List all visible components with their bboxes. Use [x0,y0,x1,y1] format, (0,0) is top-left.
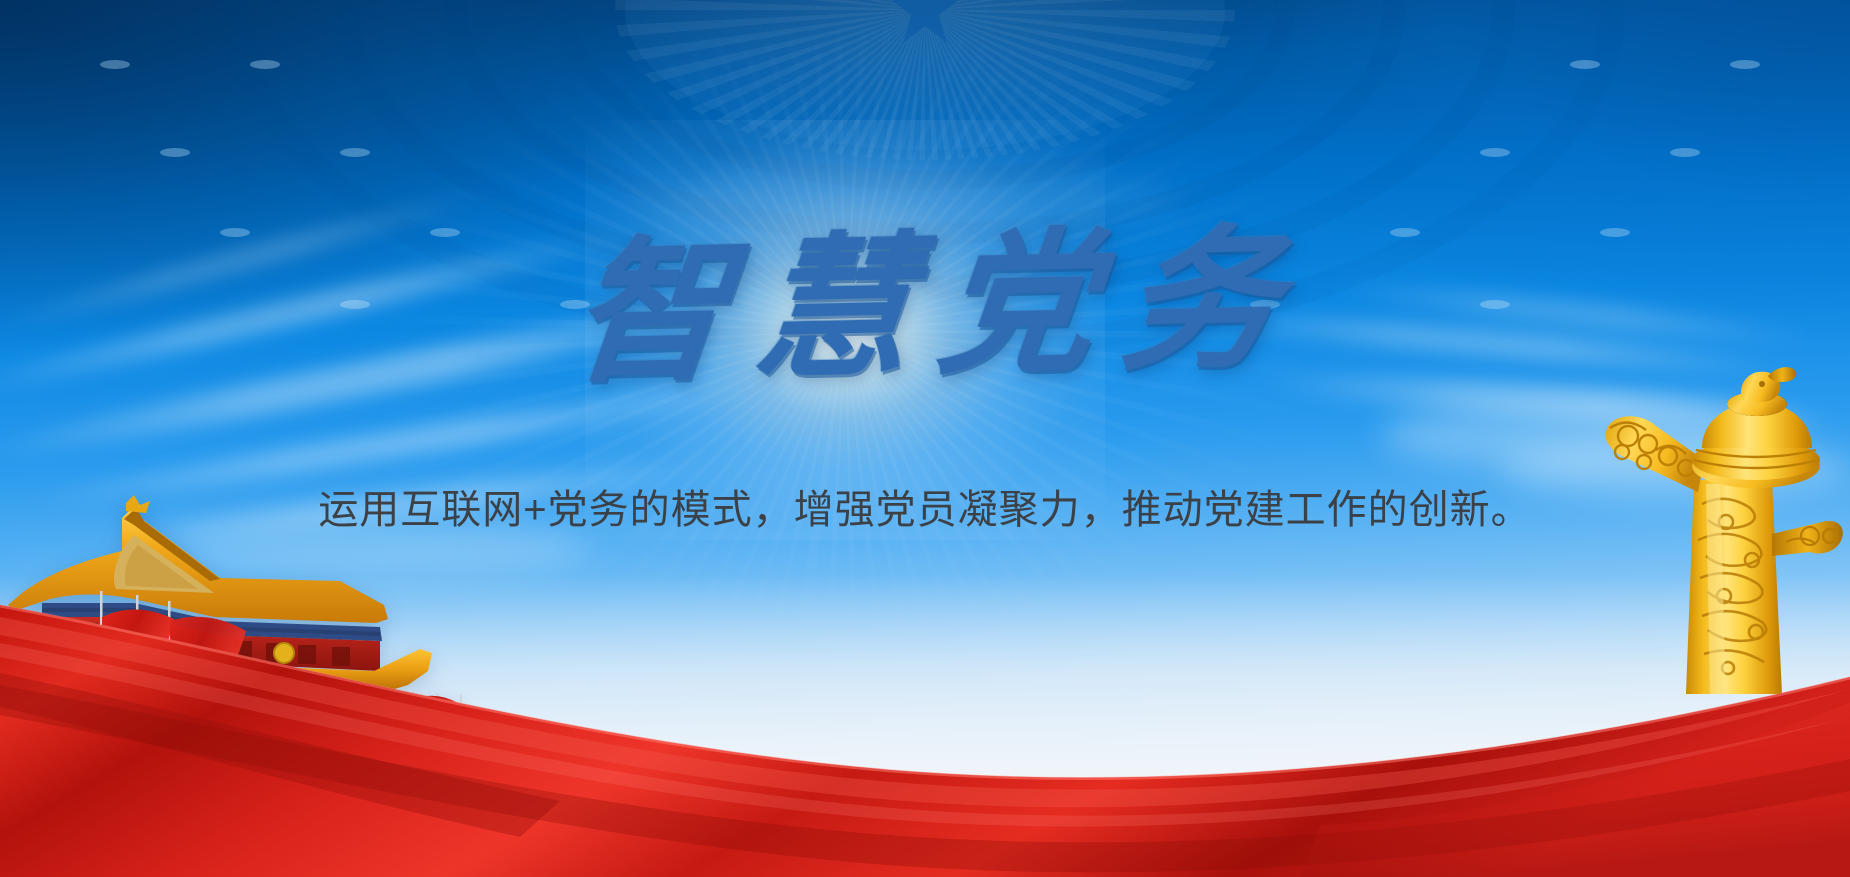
party-affairs-banner: 智慧党务 运用互联网+党务的模式，增强党员凝聚力，推动党建工作的创新。 [0,0,1850,877]
title-block: 智慧党务 [0,228,1850,383]
page-title: 智慧党务 [536,220,1314,391]
page-subtitle: 运用互联网+党务的模式，增强党员凝聚力，推动党建工作的创新。 [318,489,1531,532]
huabiao-cloud-plate-left [1606,416,1704,492]
subtitle-block: 运用互联网+党务的模式，增强党员凝聚力，推动党建工作的创新。 [0,489,1850,532]
red-silk-ribbon [0,577,1850,877]
